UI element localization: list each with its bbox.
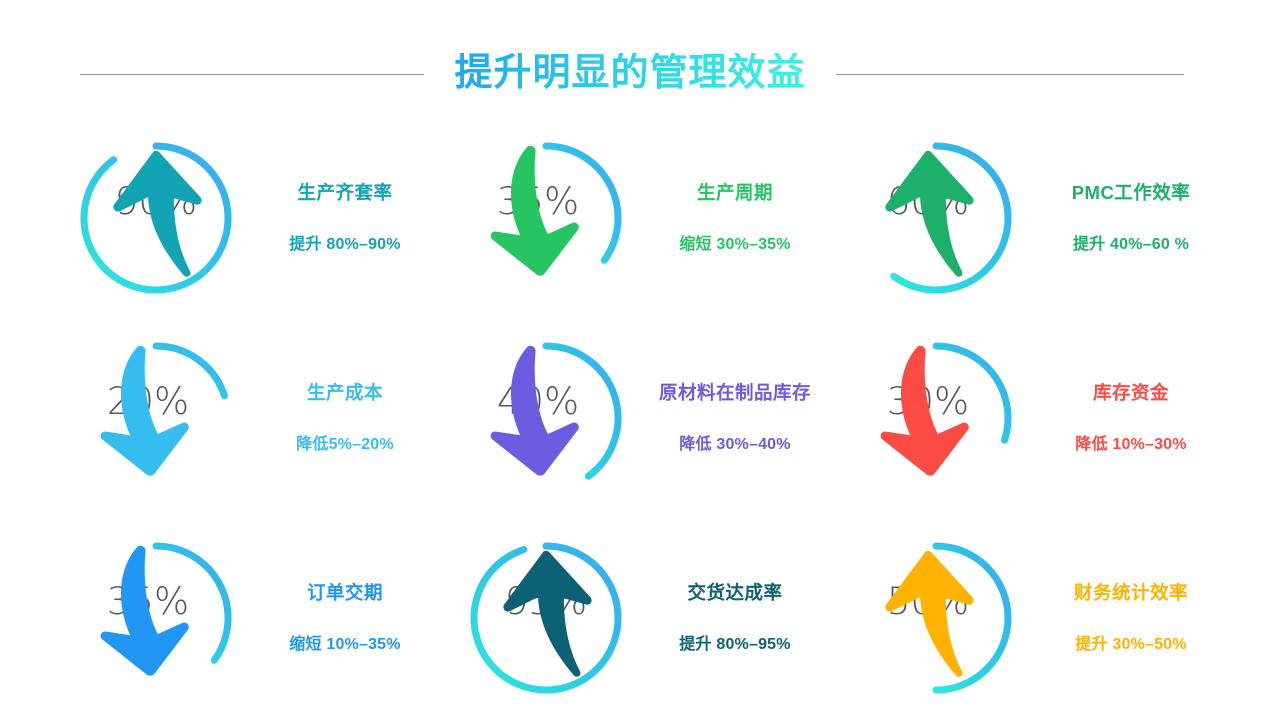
gauge-ring: 95%: [466, 538, 626, 698]
metric-text-block: 原材料在制品库存 降低 30%–40%: [640, 382, 830, 453]
metric-card: 60% PMC工作效率 提升 40%–60 %: [856, 118, 1246, 318]
metric-title: 生产周期: [697, 182, 773, 204]
metric-text-block: 订单交期 缩短 10%–35%: [250, 582, 440, 653]
metric-card: 40% 原材料在制品库存 降低 30%–40%: [466, 318, 856, 518]
metric-title: 生产齐套率: [297, 182, 392, 204]
gauge-ring: 35%: [76, 538, 236, 698]
metric-subtitle: 缩短 10%–35%: [289, 635, 400, 654]
metric-card: 95% 交货达成率 提升 80%–95%: [466, 518, 856, 718]
gauge-ring: 20%: [76, 338, 236, 498]
metric-subtitle: 提升 40%–60 %: [1073, 235, 1189, 254]
metric-title: PMC工作效率: [1072, 182, 1191, 204]
metric-text-block: 交货达成率 提升 80%–95%: [640, 582, 830, 653]
gauge-ring: 90%: [76, 138, 236, 298]
metric-text-block: 库存资金 降低 10%–30%: [1036, 382, 1226, 453]
metric-card: 30% 库存资金 降低 10%–30%: [856, 318, 1246, 518]
metric-card: 35% 订单交期 缩短 10%–35%: [76, 518, 466, 718]
metric-subtitle: 降低 10%–30%: [1075, 435, 1186, 454]
metrics-grid: 90% 生产齐套率 提升 80%–90%: [76, 118, 1196, 718]
gauge-ring: 50%: [856, 538, 1016, 698]
gauge-arc: [894, 146, 1008, 290]
metric-text-block: 生产齐套率 提升 80%–90%: [250, 182, 440, 253]
metric-card: 20% 生产成本 降低5%–20%: [76, 318, 466, 518]
gauge-arc: [156, 546, 228, 660]
gauge-ring: 35%: [466, 138, 626, 298]
gauge-arc: [546, 346, 618, 476]
metric-text-block: 生产成本 降低5%–20%: [250, 382, 440, 453]
metric-card: 35% 生产周期 缩短 30%–35%: [466, 118, 856, 318]
metric-title: 交货达成率: [687, 582, 782, 604]
metric-title: 原材料在制品库存: [659, 382, 811, 404]
gauge-arc: [546, 146, 618, 260]
header-rule-left: [80, 74, 424, 75]
metric-subtitle: 缩短 30%–35%: [679, 235, 790, 254]
metric-subtitle: 提升 30%–50%: [1075, 635, 1186, 654]
gauge-arc: [156, 346, 224, 396]
page-title: 提升明显的管理效益: [454, 53, 805, 95]
metric-text-block: 财务统计效率 提升 30%–50%: [1036, 582, 1226, 653]
gauge-arc: [936, 546, 1008, 690]
gauge-ring: 30%: [856, 338, 1016, 498]
gauge-arc: [84, 146, 228, 290]
metric-subtitle: 降低5%–20%: [296, 435, 394, 454]
metric-text-block: PMC工作效率 提升 40%–60 %: [1036, 182, 1226, 253]
metric-subtitle: 提升 80%–90%: [289, 235, 400, 254]
metric-title: 订单交期: [307, 582, 383, 604]
metric-text-block: 生产周期 缩短 30%–35%: [640, 182, 830, 253]
metric-title: 生产成本: [307, 382, 383, 404]
gauge-ring: 40%: [466, 338, 626, 498]
gauge-ring: 60%: [856, 138, 1016, 298]
metric-title: 财务统计效率: [1074, 582, 1188, 604]
header-rule-right: [836, 74, 1184, 75]
metric-card: 50% 财务统计效率 提升 30%–50%: [856, 518, 1246, 718]
metric-subtitle: 提升 80%–95%: [679, 635, 790, 654]
metric-title: 库存资金: [1093, 382, 1169, 404]
metric-card: 90% 生产齐套率 提升 80%–90%: [76, 118, 466, 318]
metric-subtitle: 降低 30%–40%: [679, 435, 790, 454]
page-header: 提升明显的管理效益: [0, 42, 1264, 106]
gauge-arc: [474, 546, 618, 690]
gauge-arc: [936, 346, 1008, 440]
